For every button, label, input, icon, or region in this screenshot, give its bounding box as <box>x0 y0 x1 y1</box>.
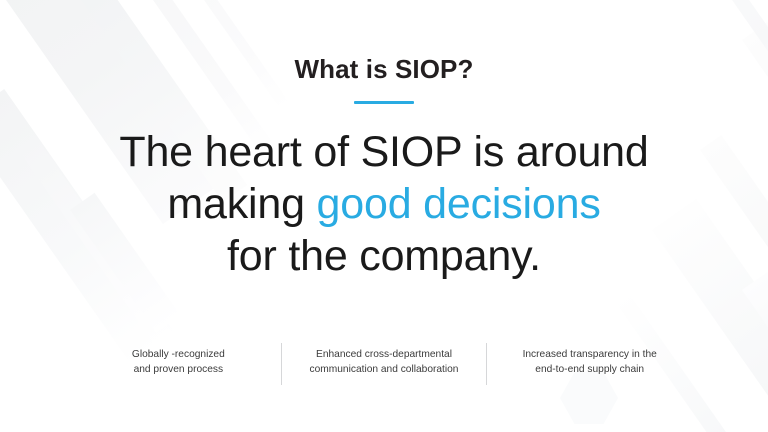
headline-line-2-prefix: making <box>167 180 316 228</box>
headline-line-1: The heart of SIOP is around <box>64 126 704 178</box>
headline: The heart of SIOP is around making good … <box>64 126 704 282</box>
benefit-item-3-line-2: end-to-end supply chain <box>493 362 686 377</box>
benefit-item-1-line-2: and proven process <box>82 362 275 377</box>
headline-line-3: for the company. <box>64 230 704 282</box>
benefit-item-2: Enhanced cross-departmental communicatio… <box>282 343 487 377</box>
benefits-row: Globally -recognized and proven process … <box>76 343 692 385</box>
benefit-item-2-line-2: communication and collaboration <box>288 362 481 377</box>
presentation-slide: What is SIOP? The heart of SIOP is aroun… <box>0 0 768 432</box>
benefit-item-1: Globally -recognized and proven process <box>76 343 281 377</box>
headline-accent-phrase: good decisions <box>317 180 601 228</box>
diagonal-stripe-right-5 <box>742 268 768 432</box>
slide-title: What is SIOP? <box>0 54 768 85</box>
title-underline-accent <box>354 101 414 104</box>
headline-line-2: making good decisions <box>64 178 704 230</box>
benefit-item-3-line-1: Increased transparency in the <box>493 347 686 362</box>
benefit-item-1-line-1: Globally -recognized <box>82 347 275 362</box>
diagonal-stripe-right-2 <box>700 135 768 432</box>
benefit-item-2-line-1: Enhanced cross-departmental <box>288 347 481 362</box>
benefit-item-3: Increased transparency in the end-to-end… <box>487 343 692 377</box>
